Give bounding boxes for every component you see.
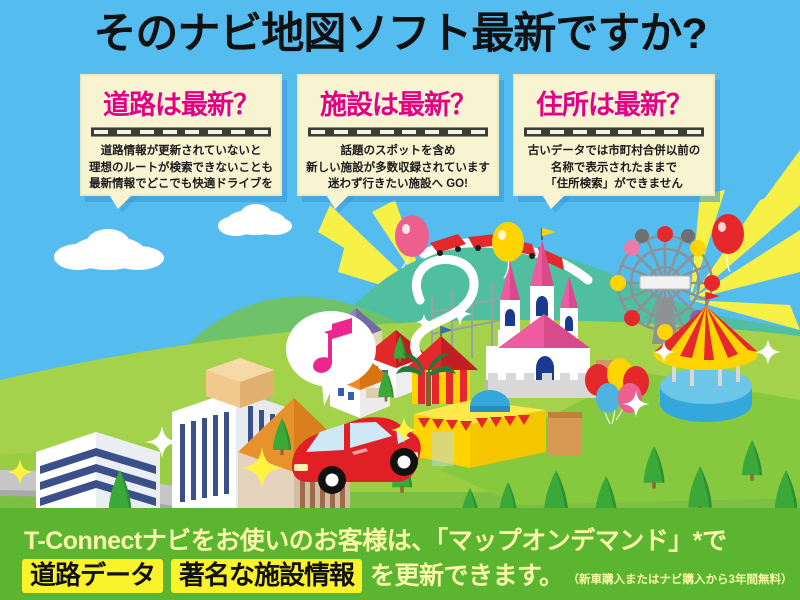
callout-title: 住所は最新？ bbox=[515, 83, 713, 122]
road-divider-icon bbox=[308, 127, 488, 137]
cloud-icon bbox=[54, 229, 164, 270]
callout-tail bbox=[325, 193, 351, 209]
callout-body-line: 最新情報でどこでも快適ドライブを bbox=[82, 176, 280, 193]
road-divider-icon bbox=[524, 127, 704, 137]
callout-box-road: 道路は最新？ 道路情報が更新されていないと 理想のルートが検索できないことも 最… bbox=[80, 74, 282, 196]
chip-facility-info: 著名な施設情報 bbox=[171, 559, 362, 593]
chip-road-data: 道路データ bbox=[22, 559, 163, 593]
callout-body-line: 名称で表示されたままで bbox=[515, 160, 713, 177]
banner-line-1: T-Connectナビをお使いのお客様は、「マップオンデマンド」*で bbox=[24, 521, 726, 557]
callout-body-line: 迷わず行きたい施設へ GO! bbox=[299, 176, 497, 193]
callout-tail bbox=[108, 193, 134, 209]
callout-body-line: 古いデータでは市町村合併以前の bbox=[515, 143, 713, 160]
callout-body-line: 道路情報が更新されていないと bbox=[82, 143, 280, 160]
banner-note: （新車購入またはナビ購入から3年間無料） bbox=[568, 571, 793, 587]
cloud-icon bbox=[218, 204, 292, 236]
callout-title: 施設は最新？ bbox=[299, 83, 497, 122]
advertisement-poster: そのナビ地図ソフト最新ですか? 道路は最新？ 道路情報が更新されていないと 理想… bbox=[0, 0, 800, 600]
callout-body-line: 「住所検索」ができません bbox=[515, 176, 713, 193]
callout-box-address: 住所は最新？ 古いデータでは市町村合併以前の 名称で表示されたままで 「住所検索… bbox=[513, 74, 715, 196]
bottom-banner: T-Connectナビをお使いのお客様は、「マップオンデマンド」*で 道路データ… bbox=[0, 508, 800, 600]
page-title: そのナビ地図ソフト最新ですか? bbox=[0, 12, 800, 57]
callout-body: 話題のスポットを含め 新しい施設が多数収録されています 迷わず行きたい施設へ G… bbox=[299, 143, 497, 193]
callout-body: 道路情報が更新されていないと 理想のルートが検索できないことも 最新情報でどこで… bbox=[82, 143, 280, 193]
callout-body: 古いデータでは市町村合併以前の 名称で表示されたままで 「住所検索」ができません bbox=[515, 143, 713, 193]
road-divider-icon bbox=[91, 127, 271, 137]
callout-tail bbox=[541, 193, 567, 209]
callout-body-line: 新しい施設が多数収録されています bbox=[299, 160, 497, 177]
callout-title: 道路は最新？ bbox=[82, 83, 280, 122]
banner-line-2: 道路データ 著名な施設情報 を更新できます。 （新車購入またはナビ購入から3年間… bbox=[22, 556, 792, 593]
banner-line-2-tail: を更新できます。 bbox=[370, 556, 564, 592]
callout-body-line: 話題のスポットを含め bbox=[299, 143, 497, 160]
callout-box-facility: 施設は最新？ 話題のスポットを含め 新しい施設が多数収録されています 迷わず行き… bbox=[297, 74, 499, 196]
callout-body-line: 理想のルートが検索できないことも bbox=[82, 160, 280, 177]
